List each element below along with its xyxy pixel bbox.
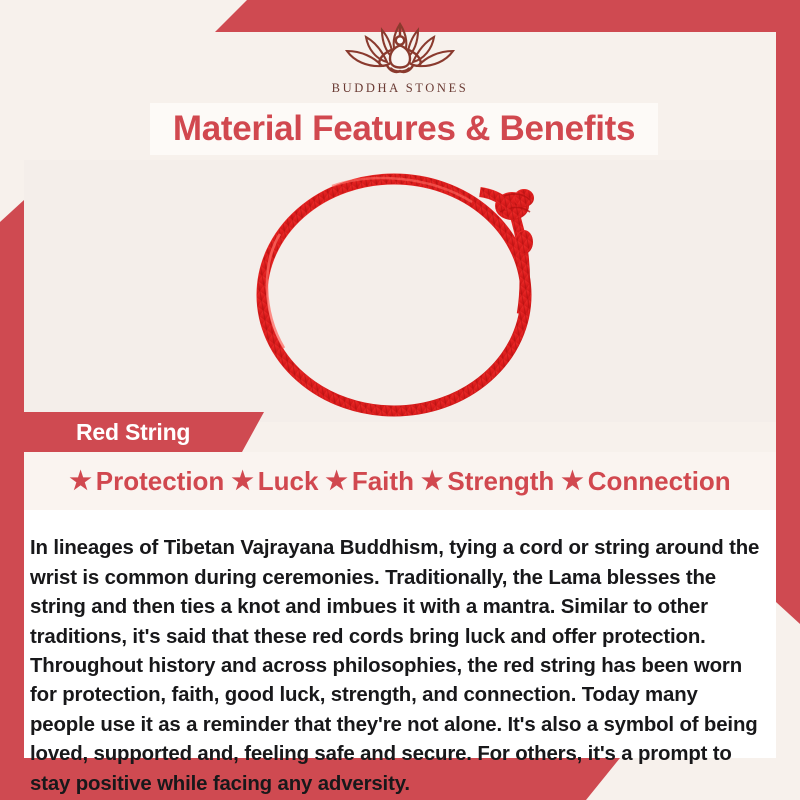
title-banner: Material Features & Benefits — [150, 103, 658, 155]
feature-label: Strength — [447, 466, 554, 497]
star-icon: ★ — [561, 469, 583, 494]
product-image-area — [24, 160, 776, 422]
star-icon: ★ — [231, 469, 253, 494]
star-icon: ★ — [69, 469, 91, 494]
product-name-ribbon: Red String — [24, 412, 264, 452]
feature-item-faith: ★ Faith — [325, 466, 414, 497]
feature-item-protection: ★ Protection — [69, 466, 224, 497]
product-name-label: Red String — [24, 419, 190, 446]
feature-list: ★ Protection ★ Luck ★ Faith ★ Strength ★… — [24, 452, 776, 510]
feature-item-connection: ★ Connection — [561, 466, 730, 497]
star-icon: ★ — [421, 469, 443, 494]
decor-left-bar — [0, 200, 24, 760]
lotus-meditation-icon — [330, 18, 470, 80]
description-text: In lineages of Tibetan Vajrayana Buddhis… — [30, 534, 766, 799]
decor-right-bar — [776, 32, 800, 624]
feature-label: Connection — [588, 466, 731, 497]
red-string-bracelet-image — [222, 162, 582, 420]
brand-logo: BUDDHA STONES — [0, 18, 800, 100]
description-card: In lineages of Tibetan Vajrayana Buddhis… — [24, 510, 776, 758]
infographic-page: BUDDHA STONES Material Features & Benefi… — [0, 0, 800, 800]
feature-label: Protection — [96, 466, 225, 497]
star-icon: ★ — [325, 469, 347, 494]
feature-label: Faith — [352, 466, 414, 497]
feature-item-strength: ★ Strength — [421, 466, 554, 497]
feature-label: Luck — [258, 466, 319, 497]
page-title: Material Features & Benefits — [173, 109, 635, 149]
brand-name: BUDDHA STONES — [332, 81, 469, 96]
feature-item-luck: ★ Luck — [231, 466, 318, 497]
